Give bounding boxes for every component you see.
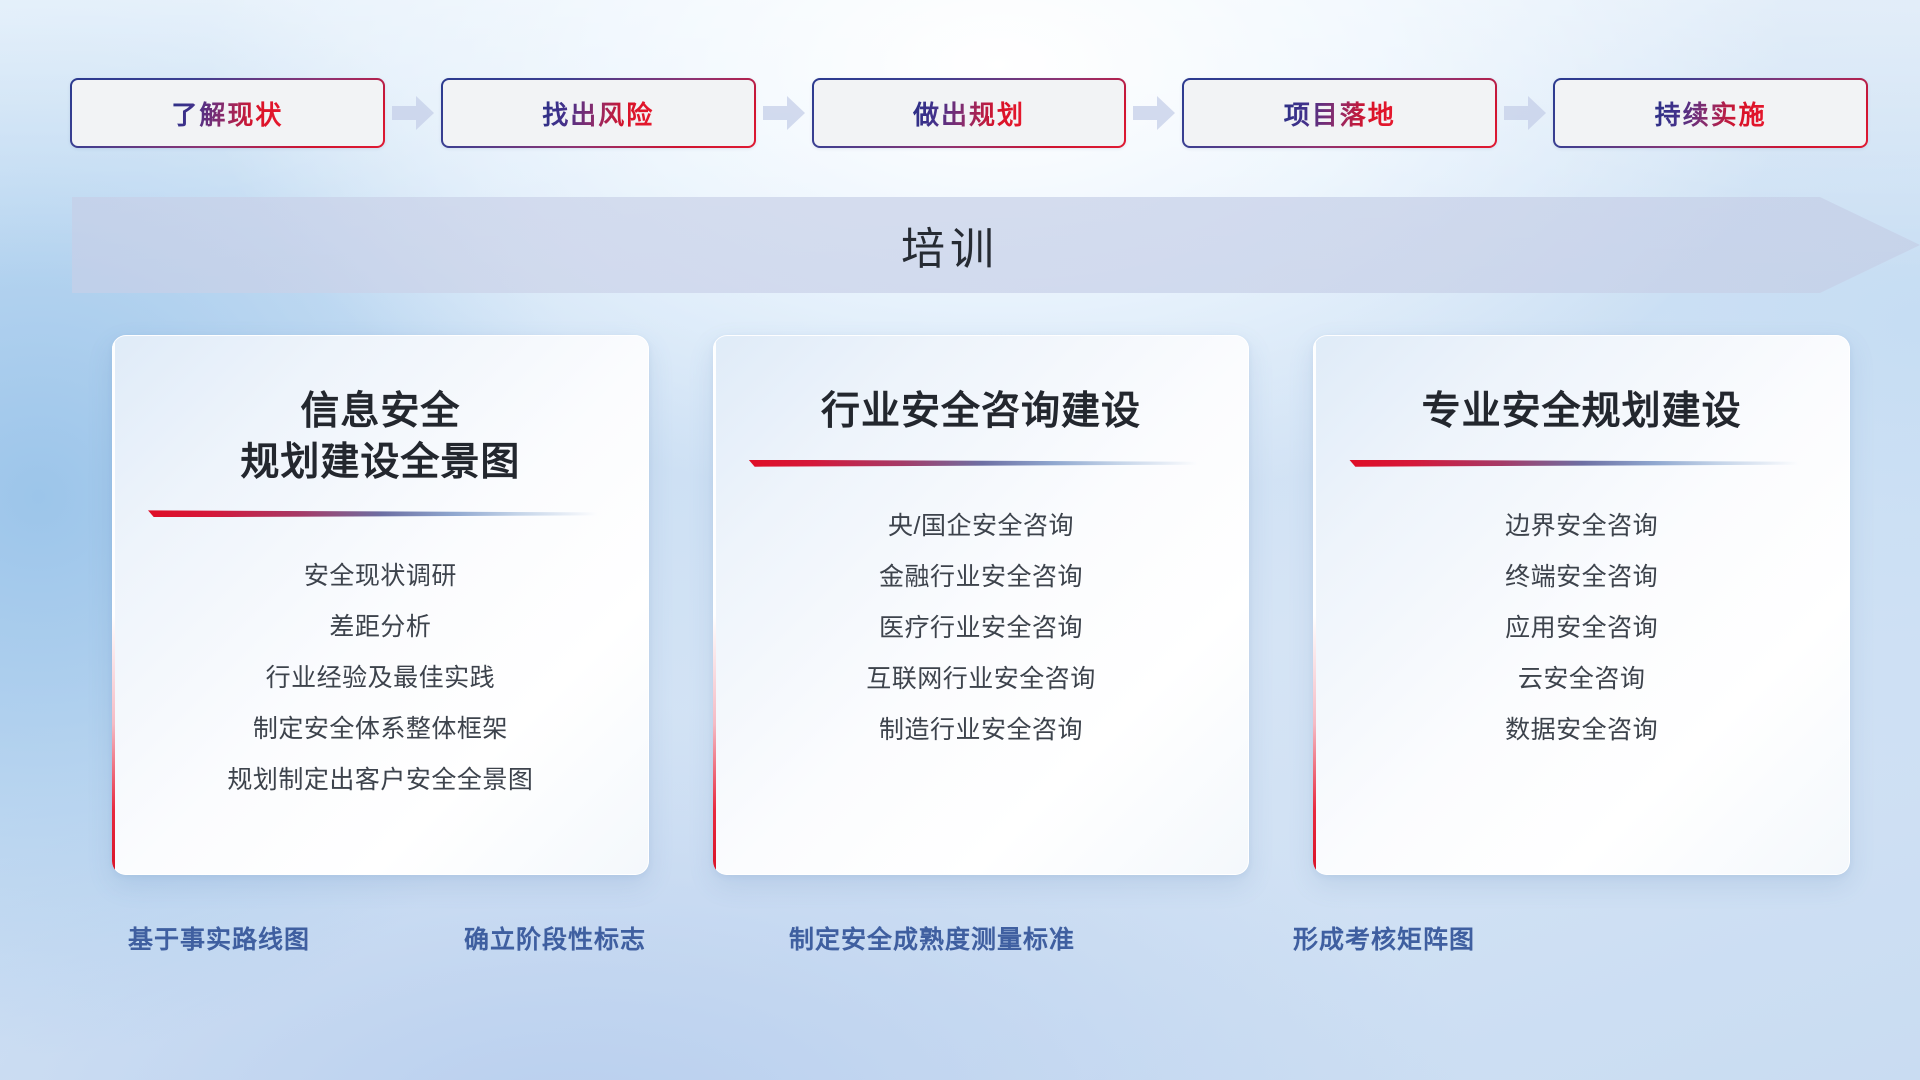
list-item: 数据安全咨询 xyxy=(1505,705,1658,756)
process-step-4[interactable]: 项目落地 xyxy=(1182,78,1497,148)
list-item: 央/国企安全咨询 xyxy=(888,501,1074,552)
card-left-accent xyxy=(713,335,716,875)
list-item: 制造行业安全咨询 xyxy=(879,705,1083,756)
process-step-label: 做出规划 xyxy=(913,95,1025,132)
card-divider xyxy=(749,460,1198,467)
card-divider xyxy=(1349,460,1798,467)
caption-roadmap: 基于事实路线图 xyxy=(128,920,310,956)
list-item: 互联网行业安全咨询 xyxy=(866,654,1096,705)
list-item: 云安全咨询 xyxy=(1518,654,1646,705)
process-step-label: 持续实施 xyxy=(1655,95,1767,132)
list-item: 边界安全咨询 xyxy=(1505,501,1658,552)
list-item: 医疗行业安全咨询 xyxy=(879,603,1083,654)
right-arrow-icon xyxy=(385,91,441,135)
process-step-5[interactable]: 持续实施 xyxy=(1553,78,1868,148)
list-item: 金融行业安全咨询 xyxy=(879,552,1083,603)
training-banner: 培训 xyxy=(0,197,1920,293)
caption-milestones: 确立阶段性标志 xyxy=(464,920,646,956)
process-step-label: 找出风险 xyxy=(542,95,654,132)
card-item-list: 央/国企安全咨询 金融行业安全咨询 医疗行业安全咨询 互联网行业安全咨询 制造行… xyxy=(743,501,1220,756)
process-step-label: 了解现状 xyxy=(171,95,283,132)
process-steps: 了解现状 找出风险 做出规划 项目落地 持续实施 xyxy=(70,78,1868,148)
banner-title: 培训 xyxy=(0,197,1920,293)
card-title: 专业安全规划建设 xyxy=(1343,387,1820,438)
right-arrow-icon xyxy=(1126,91,1182,135)
card-industry-security-consulting[interactable]: 行业安全咨询建设 央/国企安全咨询 金融行业安全咨询 医疗行业安全咨询 互联网行… xyxy=(713,335,1250,875)
card-item-list: 安全现状调研 差距分析 行业经验及最佳实践 制定安全体系整体框架 规划制定出客户… xyxy=(142,551,619,806)
process-step-label: 项目落地 xyxy=(1284,95,1396,132)
list-item: 规划制定出客户安全全景图 xyxy=(227,755,533,806)
list-item: 终端安全咨询 xyxy=(1505,552,1658,603)
card-row: 信息安全 规划建设全景图 安全现状调研 差距分析 行业经验及最佳实践 制定安全体… xyxy=(112,335,1850,875)
process-step-2[interactable]: 找出风险 xyxy=(441,78,756,148)
card-left-accent xyxy=(112,335,115,875)
list-item: 安全现状调研 xyxy=(304,551,457,602)
list-item: 应用安全咨询 xyxy=(1505,603,1658,654)
list-item: 差距分析 xyxy=(329,602,431,653)
right-arrow-icon xyxy=(756,91,812,135)
right-arrow-icon xyxy=(1497,91,1553,135)
process-step-3[interactable]: 做出规划 xyxy=(812,78,1127,148)
caption-maturity-standard: 制定安全成熟度测量标准 xyxy=(789,920,1075,956)
card-item-list: 边界安全咨询 终端安全咨询 应用安全咨询 云安全咨询 数据安全咨询 xyxy=(1343,501,1820,756)
card-title: 行业安全咨询建设 xyxy=(743,387,1220,438)
list-item: 制定安全体系整体框架 xyxy=(253,704,508,755)
caption-assessment-matrix: 形成考核矩阵图 xyxy=(1293,920,1475,956)
card-divider xyxy=(148,510,597,517)
card-information-security-panorama[interactable]: 信息安全 规划建设全景图 安全现状调研 差距分析 行业经验及最佳实践 制定安全体… xyxy=(112,335,649,875)
card-professional-security-planning[interactable]: 专业安全规划建设 边界安全咨询 终端安全咨询 应用安全咨询 云安全咨询 数据安全… xyxy=(1313,335,1850,875)
card-title: 信息安全 规划建设全景图 xyxy=(142,387,619,488)
list-item: 行业经验及最佳实践 xyxy=(266,653,496,704)
caption-row: 基于事实路线图 确立阶段性标志 制定安全成熟度测量标准 形成考核矩阵图 xyxy=(0,920,1920,980)
card-left-accent xyxy=(1313,335,1316,875)
process-step-1[interactable]: 了解现状 xyxy=(70,78,385,148)
